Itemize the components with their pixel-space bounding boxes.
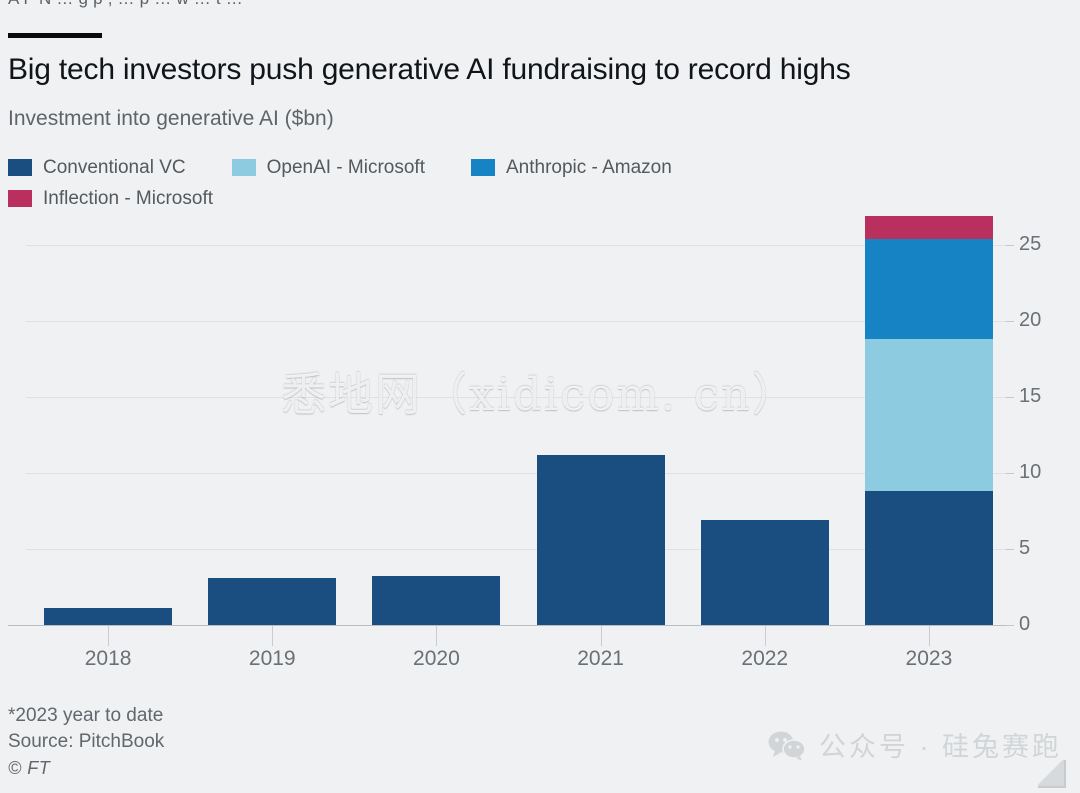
y-axis-tick-label: 15 xyxy=(1019,385,1041,408)
legend-swatch-icon xyxy=(8,190,32,207)
y-axis-tick-label: 10 xyxy=(1019,461,1041,484)
bar-segment-inflection-microsoft[interactable] xyxy=(865,216,993,239)
x-axis-tick-label: 2021 xyxy=(577,647,624,671)
bar-2022[interactable] xyxy=(701,520,829,625)
footer-copyright: © FT xyxy=(8,755,164,781)
y-axis-tick-label: 5 xyxy=(1019,537,1030,560)
clipped-top-text: A F N … g p , … p … w … t … xyxy=(0,0,1080,14)
legend-item-label: Conventional VC xyxy=(43,157,186,179)
chart-subtitle: Investment into generative AI ($bn) xyxy=(8,105,334,133)
bar-segment-anthropic-amazon[interactable] xyxy=(865,239,993,339)
x-axis-tick-label: 2022 xyxy=(741,647,788,671)
clipped-top-text-label: A F N … g p , … p … w … t … xyxy=(8,0,243,9)
y-tick-mark xyxy=(1006,245,1014,246)
legend-item-conventional-vc[interactable]: Conventional VC xyxy=(8,157,186,179)
legend-item-openai-microsoft[interactable]: OpenAI - Microsoft xyxy=(232,157,425,179)
x-axis-tick-label: 2019 xyxy=(249,647,296,671)
wechat-watermark: 公众号 · 硅兔赛跑 xyxy=(767,725,1062,764)
y-axis-tick-label: 25 xyxy=(1019,233,1041,256)
y-axis-tick-label: 20 xyxy=(1019,309,1041,332)
x-tick-mark xyxy=(929,626,930,646)
corner-fold-icon xyxy=(1038,760,1066,788)
legend-row: Inflection - Microsoft xyxy=(8,183,1018,214)
page-title: Big tech investors push generative AI fu… xyxy=(8,50,1008,90)
legend-item-label: Anthropic - Amazon xyxy=(506,157,672,179)
wechat-watermark-label: 公众号 · 硅兔赛跑 xyxy=(819,725,1062,764)
y-tick-mark xyxy=(1006,321,1014,322)
y-tick-mark xyxy=(1006,549,1014,550)
bar-2018[interactable] xyxy=(44,608,172,625)
gridline xyxy=(26,397,1011,398)
bar-2023[interactable] xyxy=(865,216,993,625)
bar-segment-conventional-vc[interactable] xyxy=(44,608,172,625)
bar-segment-conventional-vc[interactable] xyxy=(372,576,500,625)
chart-footer: *2023 year to date Source: PitchBook © F… xyxy=(8,703,164,781)
bar-2021[interactable] xyxy=(537,455,665,625)
y-tick-mark xyxy=(1006,473,1014,474)
x-axis: 201820192020202120222023 xyxy=(0,625,1080,685)
y-tick-mark xyxy=(1006,397,1014,398)
footer-source: Source: PitchBook xyxy=(8,729,164,755)
legend-swatch-icon xyxy=(8,159,32,176)
x-tick-mark xyxy=(272,626,273,646)
legend-item-label: Inflection - Microsoft xyxy=(43,188,213,210)
x-tick-mark xyxy=(108,626,109,646)
bar-segment-conventional-vc[interactable] xyxy=(701,520,829,625)
gridline xyxy=(26,321,1011,322)
x-tick-mark xyxy=(765,626,766,646)
wechat-icon xyxy=(767,730,807,760)
bar-segment-conventional-vc[interactable] xyxy=(537,455,665,625)
bar-2020[interactable] xyxy=(372,576,500,625)
bar-segment-conventional-vc[interactable] xyxy=(208,578,336,625)
legend-item-label: OpenAI - Microsoft xyxy=(267,157,425,179)
bar-segment-conventional-vc[interactable] xyxy=(865,491,993,625)
ft-rule-divider xyxy=(8,33,102,38)
legend-swatch-icon xyxy=(232,159,256,176)
legend-swatch-icon xyxy=(471,159,495,176)
x-tick-mark xyxy=(601,626,602,646)
x-axis-tick-label: 2018 xyxy=(85,647,132,671)
x-tick-mark xyxy=(436,626,437,646)
chart-legend: Conventional VCOpenAI - MicrosoftAnthrop… xyxy=(8,152,1018,214)
gridline xyxy=(26,473,1011,474)
legend-row: Conventional VCOpenAI - MicrosoftAnthrop… xyxy=(8,152,1018,183)
bar-segment-openai-microsoft[interactable] xyxy=(865,339,993,491)
footer-note: *2023 year to date xyxy=(8,703,164,729)
gridline xyxy=(26,549,1011,550)
x-axis-tick-label: 2020 xyxy=(413,647,460,671)
gridline xyxy=(26,245,1011,246)
x-axis-tick-label: 2023 xyxy=(906,647,953,671)
bar-2019[interactable] xyxy=(208,578,336,625)
legend-item-inflection-microsoft[interactable]: Inflection - Microsoft xyxy=(8,188,213,210)
chart-plot-area: 0510152025 xyxy=(0,212,1080,632)
legend-item-anthropic-amazon[interactable]: Anthropic - Amazon xyxy=(471,157,672,179)
